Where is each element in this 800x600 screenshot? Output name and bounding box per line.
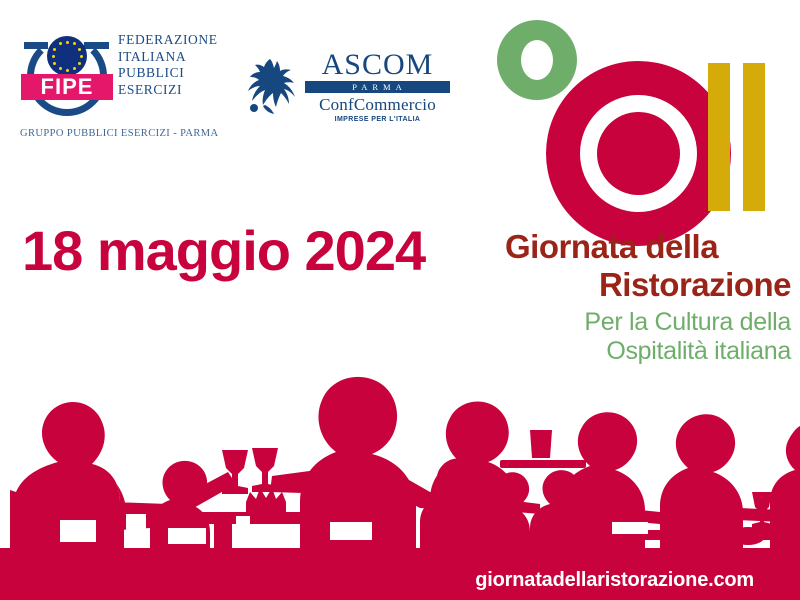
fipe-bar-right bbox=[84, 42, 109, 49]
event-title-block: Giornata della Ristorazione Per la Cultu… bbox=[505, 228, 795, 366]
silhouette-svg bbox=[0, 352, 800, 600]
dining-silhouette-illustration bbox=[0, 352, 800, 600]
fipe-name-line-4: ESERCIZI bbox=[118, 82, 218, 99]
event-date: 18 maggio 2024 bbox=[22, 218, 425, 283]
ascom-tagline: IMPRESE PER L'ITALIA bbox=[305, 115, 450, 124]
ascom-city: PARMA bbox=[305, 81, 450, 93]
fipe-bar-left bbox=[24, 42, 48, 49]
fipe-name-line-3: PUBBLICI bbox=[118, 65, 218, 82]
plate-icon bbox=[546, 61, 731, 246]
fipe-emblem-icon: FIPE bbox=[25, 30, 117, 122]
fork-tine-right-icon bbox=[743, 63, 765, 211]
fork-tine-left-icon bbox=[708, 63, 730, 211]
ascom-name: ASCOM bbox=[305, 50, 450, 80]
event-logo-mark bbox=[490, 18, 790, 223]
website-url[interactable]: giornatadellaristorazione.com bbox=[475, 569, 754, 592]
fipe-name-block: FEDERAZIONE ITALIANA PUBBLICI ESERCIZI bbox=[118, 32, 218, 98]
ascom-logo: ASCOM PARMA ConfCommercio IMPRESE PER L'… bbox=[243, 50, 448, 135]
ascom-text-block: ASCOM PARMA ConfCommercio IMPRESE PER L'… bbox=[305, 50, 450, 124]
fipe-subtitle: GRUPPO PUBBLICI ESERCIZI - PARMA bbox=[20, 128, 219, 139]
event-title-line-1: Giornata della bbox=[505, 228, 795, 266]
fipe-wordmark: FIPE bbox=[21, 74, 113, 100]
eagle-icon bbox=[243, 56, 299, 118]
poster-canvas: FIPE FEDERAZIONE ITALIANA PUBBLICI ESERC… bbox=[0, 0, 800, 600]
fipe-name-line-2: ITALIANA bbox=[118, 49, 218, 66]
eu-stars-icon bbox=[47, 36, 87, 76]
fipe-logo: FIPE FEDERAZIONE ITALIANA PUBBLICI ESERC… bbox=[18, 28, 233, 153]
event-title-line-2: Ristorazione bbox=[505, 266, 795, 304]
fipe-name-line-1: FEDERAZIONE bbox=[118, 32, 218, 49]
green-ring-icon bbox=[497, 20, 577, 100]
event-subtitle-line-1: Per la Cultura della bbox=[505, 308, 795, 337]
ascom-org: ConfCommercio bbox=[305, 95, 450, 115]
